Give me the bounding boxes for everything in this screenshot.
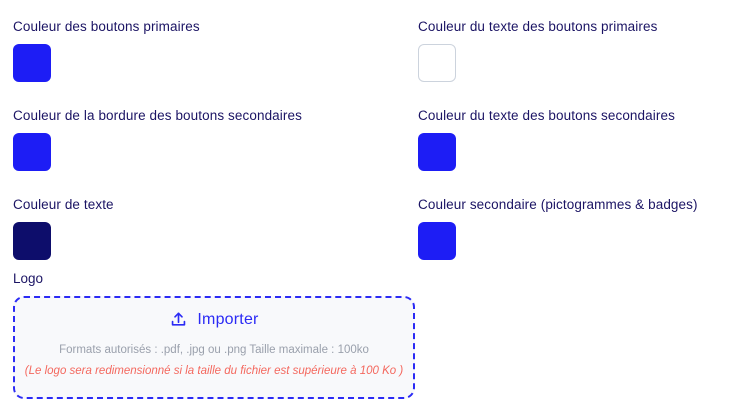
logo-format-hint: Formats autorisés : .pdf, .jpg ou .png T… <box>59 343 369 357</box>
color-swatch-text-color[interactable] <box>13 222 51 260</box>
import-button-label: Importer <box>197 310 258 329</box>
import-button[interactable]: Importer <box>169 310 258 329</box>
field-label: Couleur du texte des boutons secondaires <box>418 108 729 124</box>
logo-upload-section: Logo Importer Formats autorisés : .pdf, … <box>13 271 416 399</box>
field-label: Couleur secondaire (pictogrammes & badge… <box>418 197 729 213</box>
field-label: Couleur des boutons primaires <box>13 19 418 35</box>
logo-resize-warning: (Le logo sera redimensionné si la taille… <box>25 364 403 378</box>
color-swatch-primary-button-color[interactable] <box>13 44 51 82</box>
logo-dropzone[interactable]: Importer Formats autorisés : .pdf, .jpg … <box>13 296 415 399</box>
field-secondary-button-text-color: Couleur du texte des boutons secondaires <box>418 108 729 197</box>
field-secondary-color: Couleur secondaire (pictogrammes & badge… <box>418 197 729 286</box>
color-swatch-secondary-button-border-color[interactable] <box>13 133 51 171</box>
logo-label: Logo <box>13 271 416 287</box>
field-primary-button-color: Couleur des boutons primaires <box>13 19 418 108</box>
color-swatch-primary-button-text-color[interactable] <box>418 44 456 82</box>
field-label: Couleur de la bordure des boutons second… <box>13 108 418 124</box>
field-label: Couleur de texte <box>13 197 418 213</box>
color-swatch-secondary-button-text-color[interactable] <box>418 133 456 171</box>
color-swatch-secondary-color[interactable] <box>418 222 456 260</box>
field-label: Couleur du texte des boutons primaires <box>418 19 729 35</box>
color-settings-grid: Couleur des boutons primaires Couleur du… <box>0 0 729 286</box>
upload-icon <box>169 310 188 329</box>
field-secondary-button-border-color: Couleur de la bordure des boutons second… <box>13 108 418 197</box>
field-primary-button-text-color: Couleur du texte des boutons primaires <box>418 19 729 108</box>
